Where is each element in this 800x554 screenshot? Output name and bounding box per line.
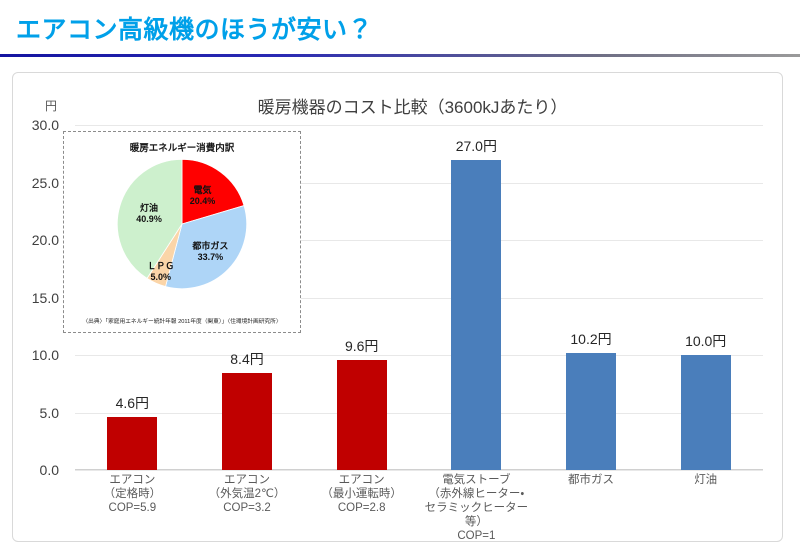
y-axis-tick-label: 0.0 [0,462,59,478]
x-axis-category-label: エアコン （最小運転時） COP=2.8 [304,473,419,543]
bar[interactable] [337,360,387,470]
x-axis-category-label: 電気ストーブ （赤外線ヒーター・ セラミックヒーター等） COP=1 [419,473,534,543]
chart-title: 暖房機器のコスト比較（3600kJあたり） [13,93,782,118]
pie-slice-label: 灯油40.9% [136,203,162,225]
pie-slice-label: ＬＰＧ5.0% [147,261,174,283]
bar-value-label: 27.0円 [419,136,534,156]
bar-slot: 27.0円 [419,125,534,470]
bar[interactable] [566,353,616,470]
bar-value-label: 4.6円 [75,393,190,413]
bar[interactable] [451,160,501,471]
title-divider [0,54,800,57]
pie-slice-percent: 33.7% [192,252,228,263]
bar[interactable] [107,417,157,470]
bar-slot: 10.2円 [534,125,649,470]
pie-slice-label: 電気20.4% [190,185,216,207]
bar-value-label: 8.4円 [190,349,305,369]
x-axis-category-label: エアコン （定格時） COP=5.9 [75,473,190,543]
bar-value-label: 9.6円 [304,336,419,356]
pie-chart-graphic: 電気20.4%都市ガス33.7%ＬＰＧ5.0%灯油40.9% [116,158,248,290]
pie-slice-percent: 20.4% [190,196,216,207]
pie-slice-percent: 40.9% [136,214,162,225]
pie-slice-label: 都市ガス33.7% [192,241,228,263]
pie-slice-name: 灯油 [136,203,162,214]
x-axis-labels: エアコン （定格時） COP=5.9エアコン （外気温2℃） COP=3.2エア… [75,473,763,543]
pie-chart-inset: 暖房エネルギー消費内訳 電気20.4%都市ガス33.7%ＬＰＧ5.0%灯油40.… [63,131,301,333]
bar-slot: 9.6円 [304,125,419,470]
x-axis-category-label: 灯油 [648,473,763,543]
bar[interactable] [222,373,272,470]
y-axis-tick-label: 20.0 [0,232,59,248]
pie-slice-name: ＬＰＧ [147,261,174,272]
y-axis-tick-label: 25.0 [0,175,59,191]
chart-panel: 円 暖房機器のコスト比較（3600kJあたり） 0.05.010.015.020… [12,72,783,542]
pie-slice-name: 都市ガス [192,241,228,252]
pie-slice-percent: 5.0% [147,272,174,283]
gridline [75,470,763,471]
pie-chart-title: 暖房エネルギー消費内訳 [64,140,300,154]
slide-title: エアコン高級機のほうが安い？ [16,10,373,46]
bar-slot: 10.0円 [648,125,763,470]
bar[interactable] [681,355,731,470]
bar-value-label: 10.0円 [648,331,763,351]
x-axis-category-label: エアコン （外気温2℃） COP=3.2 [190,473,305,543]
y-axis-tick-label: 30.0 [0,117,59,133]
x-axis-category-label: 都市ガス [534,473,649,543]
y-axis-tick-label: 15.0 [0,290,59,306]
y-axis-tick-label: 5.0 [0,405,59,421]
bar-value-label: 10.2円 [534,329,649,349]
pie-chart-source-note: 〈出典〉「家庭用エネルギー統計年報 2011年度（関東）」〈住環境計画研究所〉 [70,316,294,325]
y-axis-tick-label: 10.0 [0,347,59,363]
pie-slice-name: 電気 [190,185,216,196]
